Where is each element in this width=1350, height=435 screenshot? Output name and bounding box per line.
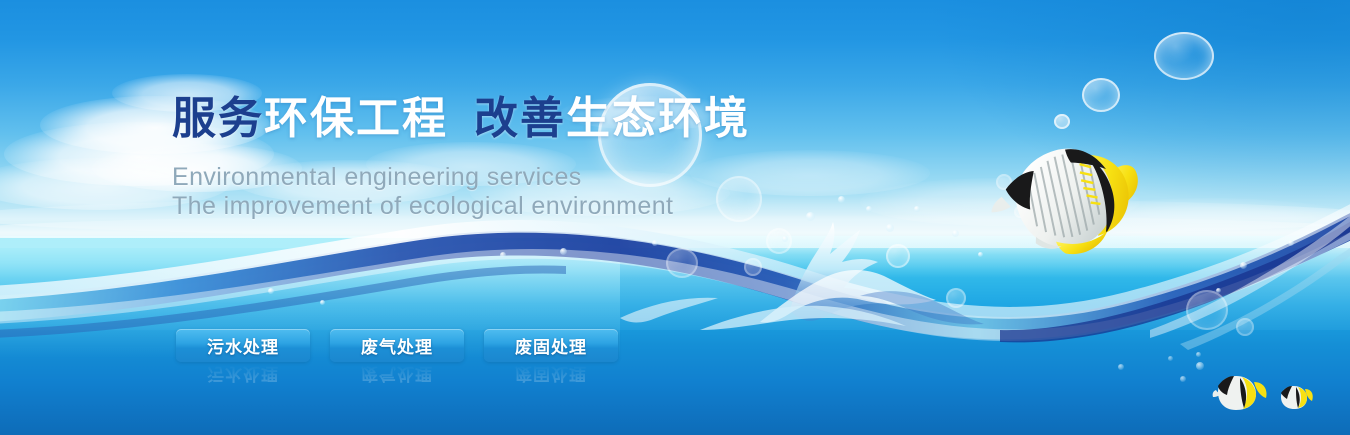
button-solid-waste-treatment[interactable]: 废固处理 废固处理 [484,329,618,362]
button-waste-gas-label: 废气处理 [361,333,433,358]
hero-banner: 服务环保工程改善生态环境 Environmental engineering s… [0,0,1350,435]
headline-part2-white: 生态环境 [566,94,750,143]
subtitle-line-2: The improvement of ecological environmen… [172,192,673,221]
button-waste-gas-treatment[interactable]: 废气处理 废气处理 [330,329,464,362]
button-wastewater-treatment[interactable]: 污水处理 污水处理 [176,329,310,362]
headline-part1-white: 环保工程 [264,94,448,143]
subtitle-line-1: Environmental engineering services [172,163,582,192]
headline-part1-navy: 服务 [172,94,264,143]
page-title: 服务环保工程改善生态环境 [172,97,750,141]
service-button-row: 污水处理 污水处理 废气处理 废气处理 废固处理 废固处理 [176,329,618,362]
headline-part2-navy: 改善 [474,94,566,143]
button-solid-waste-label: 废固处理 [515,333,587,358]
button-wastewater-label: 污水处理 [207,333,279,358]
